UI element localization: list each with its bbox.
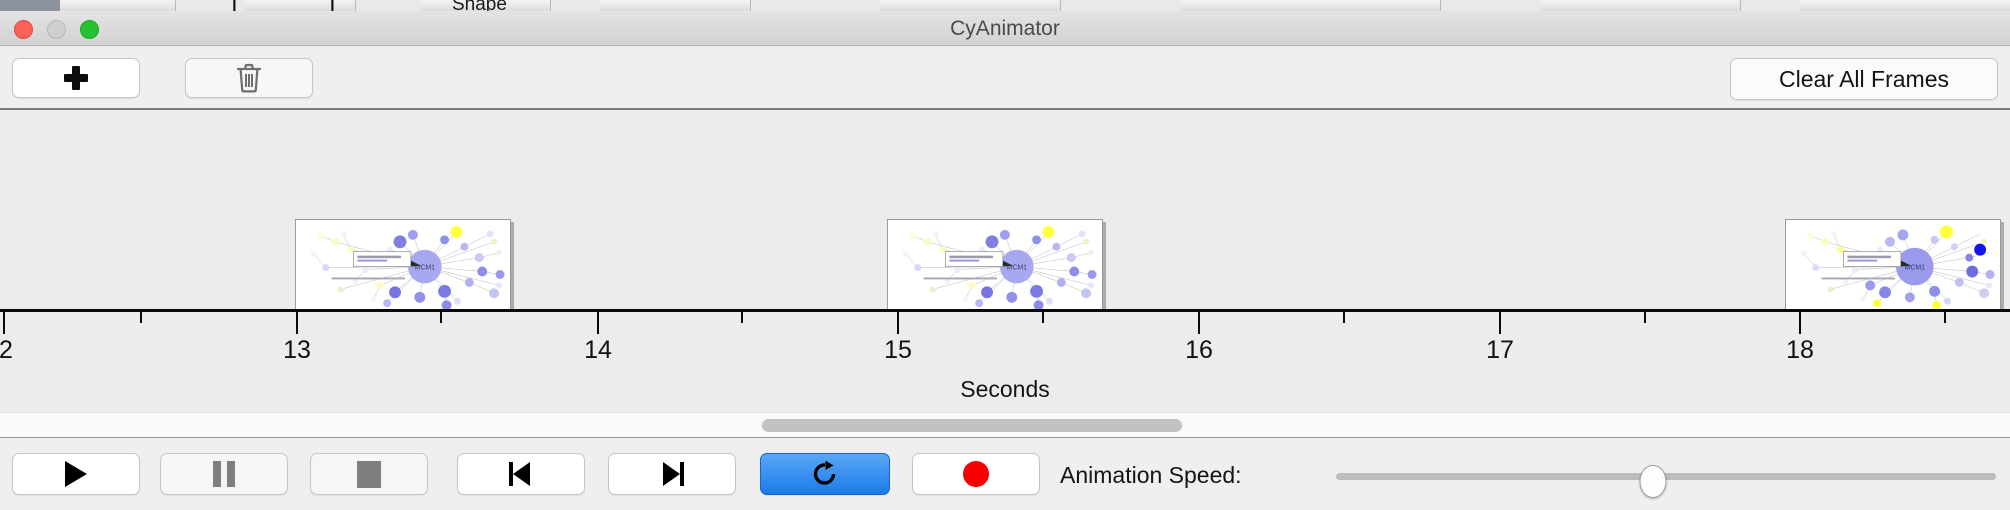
timeline-scrollbar[interactable] — [0, 412, 2010, 438]
tick-minor — [1042, 312, 1044, 323]
previous-frame-button[interactable] — [457, 453, 585, 495]
toolbar: Clear All Frames — [0, 46, 2010, 110]
animation-speed-label: Animation Speed: — [1060, 462, 1242, 489]
background-window-chunk — [1540, 0, 1741, 11]
loop-icon — [810, 459, 840, 489]
skip-previous-icon — [508, 461, 534, 487]
network-thumbnail-image: MCM1 — [888, 220, 1102, 312]
loop-button[interactable] — [760, 453, 890, 495]
pause-button[interactable] — [160, 453, 288, 495]
tick-minor — [140, 312, 142, 323]
tick-minor — [1644, 312, 1646, 323]
tick-label: 16 — [1185, 336, 1213, 365]
pause-icon — [213, 461, 235, 487]
tick-major — [1198, 312, 1200, 334]
background-window-chunk — [880, 0, 1061, 11]
delete-frame-button[interactable] — [185, 58, 313, 98]
frame-thumbnail-1[interactable]: MCM1 — [295, 219, 511, 312]
next-frame-button[interactable] — [608, 453, 736, 495]
clear-all-frames-button[interactable]: Clear All Frames — [1730, 58, 1998, 100]
play-button[interactable] — [12, 453, 140, 495]
background-window-chunk — [60, 0, 176, 11]
slider-thumb[interactable] — [1639, 465, 1666, 498]
tick-minor — [1343, 312, 1345, 323]
stop-icon — [357, 461, 381, 488]
tick-major — [296, 312, 298, 334]
play-icon — [65, 461, 87, 487]
background-window-titlebar — [0, 0, 60, 11]
skip-next-icon — [659, 461, 685, 487]
timeline-ruler[interactable]: 2 13 14 15 16 17 18 Seconds — [0, 309, 2010, 409]
title-bar: CyAnimator — [0, 11, 2010, 46]
tick-major — [1499, 312, 1501, 334]
scrollbar-thumb[interactable] — [762, 419, 1182, 432]
tick-label: 15 — [884, 336, 912, 365]
tick-label: 18 — [1786, 336, 1814, 365]
tick-label: 17 — [1486, 336, 1514, 365]
tick-major — [1799, 312, 1801, 334]
background-window-label: Shape — [452, 0, 507, 11]
record-icon — [963, 461, 989, 487]
axis-title: Seconds — [0, 376, 2010, 403]
frame-thumbnail-2[interactable]: MCM1 — [887, 219, 1103, 312]
trash-icon — [236, 63, 262, 93]
tick-major — [3, 312, 5, 334]
stop-button[interactable] — [310, 453, 428, 495]
background-window-chunk — [245, 0, 356, 11]
tick-minor — [741, 312, 743, 323]
animation-speed-slider[interactable] — [1336, 465, 1996, 496]
cyanimator-window: | | Shape CyAnimator Clear All Frames — [0, 0, 2010, 510]
frames-panel[interactable]: MCM1 — [0, 110, 2010, 312]
tick-label: 2 — [0, 336, 13, 365]
plus-icon — [63, 65, 89, 91]
background-window-strip: | | Shape — [0, 0, 2010, 11]
tick-minor — [440, 312, 442, 323]
tick-label: 13 — [283, 336, 311, 365]
network-thumbnail-image: MCM1 — [296, 220, 510, 312]
frame-thumbnail-3[interactable]: MCM1 — [1785, 219, 2001, 312]
playback-controls: Animation Speed: — [0, 439, 2010, 510]
background-window-chunk — [600, 0, 751, 11]
add-frame-button[interactable] — [12, 58, 140, 98]
background-window-chunk — [1180, 0, 1441, 11]
background-window-chunk — [1800, 0, 2010, 11]
record-button[interactable] — [912, 453, 1040, 495]
tick-label: 14 — [584, 336, 612, 365]
tick-minor — [1944, 312, 1946, 323]
tick-major — [597, 312, 599, 334]
network-thumbnail-image: MCM1 — [1786, 220, 2000, 312]
tick-major — [897, 312, 899, 334]
axis-line — [0, 309, 2010, 312]
page-title: CyAnimator — [0, 11, 2010, 46]
